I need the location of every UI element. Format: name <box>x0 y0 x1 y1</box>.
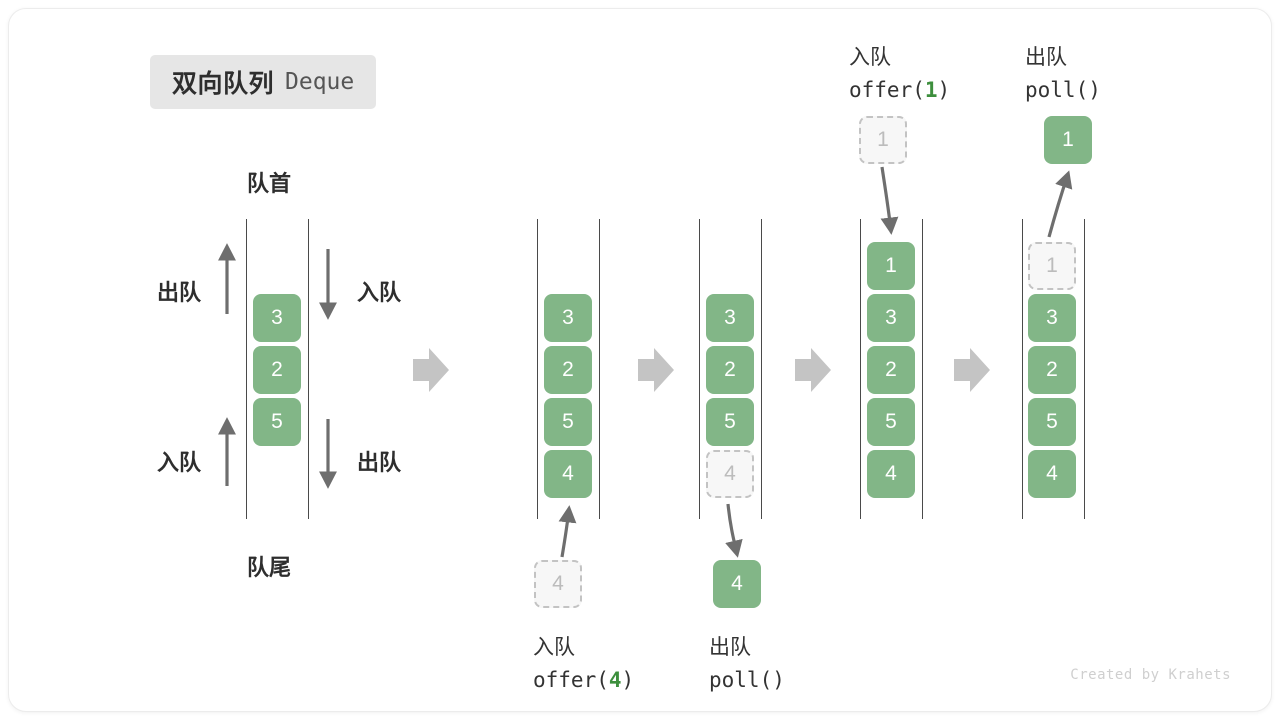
panel-2-floating-value: 4 <box>534 560 582 608</box>
panel-5-code-suffix: ) <box>1088 78 1101 102</box>
panel-5-floating-value: 1 <box>1044 116 1092 164</box>
panel-1-label-bottom-right: 出队 <box>357 445 401 477</box>
panel-1-item-1: 2 <box>253 346 301 394</box>
panel-2-caption-code: offer(4) <box>533 668 634 692</box>
panel-2-item-0: 3 <box>544 294 592 342</box>
panel-5-code-prefix: poll( <box>1025 78 1088 102</box>
transition-arrow-3 <box>795 348 831 392</box>
panel-2-item-3: 4 <box>544 450 592 498</box>
panel-5-rail-right <box>1084 219 1085 519</box>
panel-4-caption-cn: 入队 <box>849 41 891 71</box>
panel-4-code-prefix: offer( <box>849 78 925 102</box>
panel-4-code-arg: 1 <box>925 78 938 102</box>
panel-1-rail-left <box>246 219 247 519</box>
page-title-en: Deque <box>285 69 354 95</box>
diagram-title-chip: 双向队列 Deque <box>150 55 376 109</box>
panel-4-floating-value: 1 <box>859 116 907 164</box>
panel-3-item-3-ghost: 4 <box>706 450 754 498</box>
panel-4-item-4: 4 <box>867 450 915 498</box>
diagram-card: 双向队列 Deque 队首 队尾 3 2 5 出队 入队 入队 出队 3 2 5… <box>8 8 1272 712</box>
panel-3-item-0: 3 <box>706 294 754 342</box>
panel-5-item-3: 5 <box>1028 398 1076 446</box>
diagram-canvas: 双向队列 Deque 队首 队尾 3 2 5 出队 入队 入队 出队 3 2 5… <box>0 0 1280 720</box>
panel-5-caption-cn: 出队 <box>1025 41 1067 71</box>
panel-1-item-2: 5 <box>253 398 301 446</box>
panel-2-rail-left <box>537 219 538 519</box>
panel-4-item-3: 5 <box>867 398 915 446</box>
panel-4-rail-right <box>922 219 923 519</box>
panel-2-code-prefix: offer( <box>533 668 609 692</box>
panel-3-caption-cn: 出队 <box>709 631 751 661</box>
panel-5-item-2: 2 <box>1028 346 1076 394</box>
panel-2-caption-cn: 入队 <box>533 631 575 661</box>
panel-3-floating-value: 4 <box>713 560 761 608</box>
panel-4-rail-left <box>860 219 861 519</box>
panel-5-arrow-remove <box>1049 174 1068 237</box>
panel-3-rail-right <box>761 219 762 519</box>
panel-5-item-0-ghost: 1 <box>1028 242 1076 290</box>
panel-3-item-2: 5 <box>706 398 754 446</box>
panel-3-code-suffix: ) <box>772 668 785 692</box>
panel-5-item-1: 3 <box>1028 294 1076 342</box>
panel-1-item-0: 3 <box>253 294 301 342</box>
panel-1-label-top-right: 入队 <box>357 275 401 307</box>
panel-5-item-4: 4 <box>1028 450 1076 498</box>
panel-1-label-top-left: 出队 <box>157 275 201 307</box>
arrows-overlay <box>9 9 1272 712</box>
panel-3-code-prefix: poll( <box>709 668 772 692</box>
panel-2-code-suffix: ) <box>622 668 635 692</box>
panel-3-item-1: 2 <box>706 346 754 394</box>
transition-arrow-4 <box>954 348 990 392</box>
panel-4-caption-code: offer(1) <box>849 78 950 102</box>
panel-4-item-2: 2 <box>867 346 915 394</box>
label-queue-rear: 队尾 <box>247 550 291 582</box>
credit-text: Created by Krahets <box>1070 667 1231 683</box>
panel-2-item-2: 5 <box>544 398 592 446</box>
transition-arrow-1 <box>413 348 449 392</box>
panel-5-rail-left <box>1022 219 1023 519</box>
panel-4-item-0: 1 <box>867 242 915 290</box>
page-title-cn: 双向队列 <box>172 64 274 100</box>
panel-4-arrow-insert <box>882 167 891 231</box>
panel-2-arrow-insert <box>562 509 569 557</box>
label-queue-front: 队首 <box>247 166 291 198</box>
panel-2-rail-right <box>599 219 600 519</box>
panel-3-arrow-remove <box>728 504 737 554</box>
transition-arrow-2 <box>638 348 674 392</box>
panel-1-rail-right <box>308 219 309 519</box>
panel-1-label-bottom-left: 入队 <box>157 445 201 477</box>
panel-3-rail-left <box>699 219 700 519</box>
panel-5-caption-code: poll() <box>1025 78 1101 102</box>
panel-3-caption-code: poll() <box>709 668 785 692</box>
panel-2-code-arg: 4 <box>609 668 622 692</box>
panel-4-code-suffix: ) <box>938 78 951 102</box>
panel-4-item-1: 3 <box>867 294 915 342</box>
panel-2-item-1: 2 <box>544 346 592 394</box>
